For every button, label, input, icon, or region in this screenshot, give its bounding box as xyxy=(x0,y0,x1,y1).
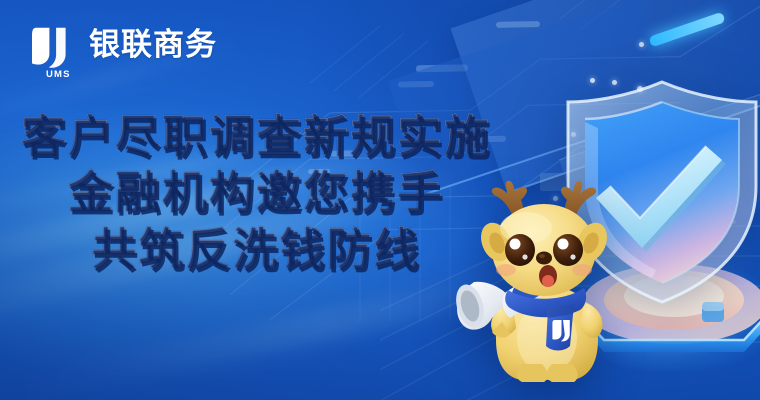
circuit-node-dot xyxy=(639,42,644,47)
logo-abbreviation: UMS xyxy=(46,70,71,80)
headline-block: 客户尽职调查新规实施 金融机构邀您携手 共筑反洗钱防线 xyxy=(0,112,512,281)
logo-wordmark: 银联商务 xyxy=(89,29,217,62)
unionpay-u-mark-icon: UMS xyxy=(30,26,76,82)
headline-line-1-text: 客户尽职调查新规实施 xyxy=(21,110,491,163)
glow-pedestal-icon xyxy=(556,252,760,382)
headline-line-2-text: 金融机构邀您携手 xyxy=(68,166,444,219)
brand-logo[interactable]: UMS 银联商务 xyxy=(30,26,217,82)
circuit-node-dot xyxy=(590,78,595,83)
security-shield-icon xyxy=(560,78,760,306)
anti-money-laundering-banner: UMS 银联商务 客户尽职调查新规实施 金融机构邀您携手 共筑反洗钱防线 xyxy=(0,0,760,400)
headline-line-2: 金融机构邀您携手 xyxy=(0,168,512,218)
hero-glow xyxy=(505,120,760,400)
headline-line-3-text: 共筑反洗钱防线 xyxy=(91,223,420,276)
circuit-node-dot xyxy=(612,80,617,85)
tech-plate-lower xyxy=(559,82,760,264)
circuit-node-dot xyxy=(679,124,686,131)
headline-line-1: 客户尽职调查新规实施 xyxy=(0,112,512,162)
headline-line-3: 共筑反洗钱防线 xyxy=(0,225,512,275)
circuit-node-dot xyxy=(637,86,643,92)
circuit-node-dot xyxy=(571,132,576,137)
cyan-accent-bar xyxy=(648,12,725,48)
circuit-node-dot xyxy=(553,196,558,201)
